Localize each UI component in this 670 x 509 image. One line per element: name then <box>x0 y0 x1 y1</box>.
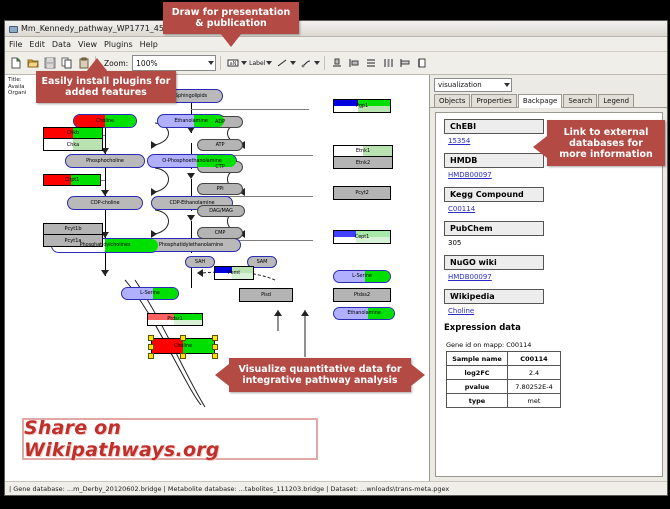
gene-row-etnk2[interactable]: Etnk2 <box>334 157 392 168</box>
status-bar: | Gene database: ...m_Derby_20120602.bri… <box>5 481 667 495</box>
line-dropdown[interactable] <box>274 56 296 71</box>
node-label: Ethanolamine <box>347 311 380 316</box>
tab-search[interactable]: Search <box>563 94 597 107</box>
backpage-link-nugo[interactable]: HMDB00097 <box>448 273 654 281</box>
common-height-icon[interactable] <box>414 56 429 71</box>
node-l-serine-right[interactable]: L-Serine <box>333 270 391 283</box>
selection-handle[interactable] <box>212 344 218 350</box>
chevron-down-icon <box>266 61 272 65</box>
node-label: Choline <box>174 344 192 349</box>
callout-line: more information <box>559 149 653 160</box>
node-label: L-Serine <box>140 291 160 296</box>
menu-item-plugins[interactable]: Plugins <box>104 40 133 49</box>
node-atp[interactable]: ATP <box>197 139 243 151</box>
table-row: pvalue 7.80252E-4 <box>447 380 561 394</box>
stack-vertical-icon[interactable] <box>363 56 378 71</box>
screenshot-root: Mm_Kennedy_pathway_WP1771_45176.gpml Fil… <box>0 0 670 509</box>
tab-backpage[interactable]: Backpage <box>518 94 562 108</box>
connector <box>105 206 106 238</box>
node-label: Ptdsr1 <box>167 317 182 322</box>
gene-row-pcyt1b[interactable]: Pcyt1b <box>44 224 102 235</box>
node-pgp1[interactable]: Pgp1 <box>333 99 391 113</box>
expression-table: Sample name C00114 log2FC 2.4 pvalue 7.8… <box>446 351 561 408</box>
window-titlebar: Mm_Kennedy_pathway_WP1771_45176.gpml <box>5 21 667 37</box>
open-folder-icon[interactable] <box>25 56 40 71</box>
visualization-row: visualization <box>430 75 667 94</box>
tab-objects[interactable]: Objects <box>434 94 470 107</box>
pathway-metadata: Title: Availa Organi <box>8 77 26 97</box>
datanode-dropdown[interactable]: aN <box>225 56 247 71</box>
datanode-icon[interactable]: aN <box>225 56 240 71</box>
visualization-value: visualization <box>438 81 482 89</box>
callout-visualize-quantitative-data: Visualize quantitative data for integrat… <box>229 358 411 392</box>
callout-arrow-down-icon <box>220 33 242 47</box>
node-label: O-Phosphoethanolamine <box>162 159 222 164</box>
node-label: Pcyt1b <box>64 226 81 232</box>
new-file-icon[interactable] <box>8 56 23 71</box>
node-cmp[interactable]: CMP <box>197 227 243 239</box>
node-label: Chpt1 <box>65 178 79 183</box>
table-row: log2FC 2.4 <box>447 366 561 380</box>
copy-icon[interactable] <box>59 56 74 71</box>
toolbar-separator <box>324 56 325 70</box>
callout-arrow-left-icon <box>215 364 229 386</box>
node-label: ADP <box>215 120 225 125</box>
gene-id-line: Gene id on mapp: C00114 <box>446 341 654 349</box>
node-l-serine-mid[interactable]: L-Serine <box>121 287 179 300</box>
align-bottom-icon[interactable] <box>329 56 344 71</box>
callout-line: & publication <box>172 18 291 29</box>
backpage-section-nugo-title: NuGO wiki <box>444 255 544 270</box>
node-phosphocholine[interactable]: Phosphocholine <box>65 154 145 168</box>
node-ethanolamine-right[interactable]: Ethanolamine <box>333 307 395 320</box>
node-choline-top[interactable]: Choline <box>73 114 137 128</box>
selection-handle[interactable] <box>212 335 218 341</box>
backpage-content[interactable]: ChEBI 15354 HMDB HMDB00097 Kegg Compound… <box>435 112 663 477</box>
node-label: Etnk1 <box>356 148 370 154</box>
callout-line: Link to external <box>559 127 653 138</box>
align-left-icon[interactable] <box>346 56 361 71</box>
toolbar-separator <box>220 56 221 70</box>
callout-easily-install-plugins: Easily install plugins for added feature… <box>36 71 176 103</box>
label-dropdown[interactable]: Label <box>249 60 272 67</box>
selection-handle[interactable] <box>212 353 218 359</box>
distribute-icon[interactable] <box>380 56 395 71</box>
selection-handle[interactable] <box>180 353 186 359</box>
node-label: CMP <box>215 231 226 236</box>
node-ppi[interactable]: PPi <box>197 183 243 195</box>
backpage-section-hmdb-title: HMDB <box>444 153 544 168</box>
node-label: Phosphatidylcholines <box>80 243 131 248</box>
node-label: Pgp1 <box>356 104 368 109</box>
table-cell-key: Sample name <box>447 352 508 366</box>
table-row: type met <box>447 394 561 408</box>
node-cdp-choline[interactable]: CDP-choline <box>67 196 143 210</box>
interaction-dropdown[interactable] <box>298 56 320 71</box>
node-pisd[interactable]: Pisd <box>239 288 293 302</box>
node-label: DAG/MAG <box>209 209 232 214</box>
backpage-value-pubchem: 305 <box>448 239 654 247</box>
chevron-down-icon <box>314 61 320 65</box>
backpage-link-wikipedia[interactable]: Choline <box>448 307 654 315</box>
node-label: ATP <box>216 143 225 148</box>
connector <box>105 128 106 154</box>
tab-legend[interactable]: Legend <box>598 94 634 107</box>
menu-item-edit[interactable]: Edit <box>29 40 45 49</box>
node-label: Cept1 <box>355 235 369 240</box>
node-label: Pcyt2 <box>355 191 368 196</box>
menu-item-file[interactable]: File <box>9 40 22 49</box>
label-button-text: Label <box>249 60 265 67</box>
table-cell-key: type <box>447 394 508 408</box>
interaction-icon[interactable] <box>298 56 313 71</box>
node-dagmag[interactable]: DAG/MAG <box>197 205 245 217</box>
node-label: L-Serine <box>352 274 372 279</box>
callout-line: Draw for presentation <box>172 7 291 18</box>
node-label: Chka <box>67 142 80 148</box>
table-cell-key: log2FC <box>447 366 508 380</box>
callout-arrow-left-icon <box>533 136 547 158</box>
callout-line: Easily install plugins for <box>42 76 171 87</box>
table-cell-value: C00114 <box>508 352 561 366</box>
node-chkb-chka[interactable]: Chkb Chka <box>43 127 103 151</box>
node-label: Sphingolipids <box>175 94 207 99</box>
backpage-section-wikipedia-title: Wikipedia <box>444 289 544 304</box>
table-cell-key: pvalue <box>447 380 508 394</box>
callout-line: added features <box>42 87 171 98</box>
node-ptdss2[interactable]: Ptdss2 <box>333 288 391 302</box>
backpage-section-kegg-title: Kegg Compound <box>444 187 544 202</box>
node-cept1[interactable]: Cept1 <box>333 230 391 244</box>
menu-item-help[interactable]: Help <box>140 40 158 49</box>
node-label: SAH <box>195 260 205 265</box>
status-bar-text: | Gene database: ...m_Derby_20120602.bri… <box>9 485 449 493</box>
meta-organism: Organi <box>8 90 26 97</box>
callout-line: integrative pathway analysis <box>238 375 401 386</box>
table-row: Sample name C00114 <box>447 352 561 366</box>
menu-item-view[interactable]: View <box>78 40 97 49</box>
backpage-link-kegg[interactable]: C00114 <box>448 205 654 213</box>
node-label: CDP-Ethanolamine <box>170 201 215 206</box>
pathvisio-icon <box>8 24 17 33</box>
svg-text:aN: aN <box>229 61 236 67</box>
connector <box>105 164 106 196</box>
node-label: Ptdss2 <box>354 293 370 298</box>
selection-handle[interactable] <box>180 335 186 341</box>
table-cell-value: 2.4 <box>508 366 561 380</box>
backpage-section-chebi-title: ChEBI <box>444 119 544 134</box>
node-label: Pisd <box>261 293 271 298</box>
connector <box>191 109 309 110</box>
gene-row-chka[interactable]: Chka <box>44 139 102 150</box>
node-label: PPi <box>216 187 223 192</box>
visualization-select[interactable]: visualization <box>434 78 512 92</box>
callout-link-to-external-databases: Link to external databases for more info… <box>547 120 665 166</box>
node-sah[interactable]: SAH <box>185 256 215 268</box>
node-label: CDP-choline <box>91 201 120 206</box>
node-label: Choline <box>96 119 114 124</box>
line-icon[interactable] <box>274 56 289 71</box>
node-chpt1[interactable]: Chpt1 <box>43 174 101 186</box>
gene-row-etnk1[interactable]: Etnk1 <box>334 146 392 157</box>
callout-arrow-up-icon <box>86 58 108 72</box>
expression-data-heading: Expression data <box>444 323 654 333</box>
backpage-link-hmdb[interactable]: HMDB00097 <box>448 171 654 179</box>
selection-handle[interactable] <box>148 335 154 341</box>
tab-properties[interactable]: Properties <box>471 94 516 107</box>
chevron-down-icon <box>241 61 247 65</box>
backpage-section-pubchem-title: PubChem <box>444 221 544 236</box>
menubar: File Edit Data View Plugins Help <box>5 37 667 52</box>
node-label: SAM <box>257 260 268 265</box>
chevron-down-icon <box>290 61 296 65</box>
callout-draw-for-presentation: Draw for presentation & publication <box>163 2 299 34</box>
menu-item-data[interactable]: Data <box>52 40 71 49</box>
chevron-down-icon <box>208 61 214 65</box>
node-label: Phosphatidylethanolamine <box>159 243 223 248</box>
side-panel-tabs: Objects Properties Backpage Search Legen… <box>430 94 667 108</box>
node-label: Ethanolamine <box>174 119 207 124</box>
node-ptdsr1[interactable]: Ptdsr1 <box>147 313 203 326</box>
callout-line: databases for <box>559 138 653 149</box>
node-label: Pcyt1a <box>65 238 82 244</box>
zoom-value: 100% <box>136 59 157 68</box>
node-label: Pemt <box>228 271 240 276</box>
table-cell-value: met <box>508 394 561 408</box>
share-banner: Share on Wikipathways.org <box>22 418 318 460</box>
node-pcyt2[interactable]: Pcyt2 <box>333 186 391 200</box>
zoom-select[interactable]: 100% <box>132 55 216 71</box>
node-pemt[interactable]: Pemt <box>214 266 254 280</box>
callout-line: Visualize quantitative data for <box>238 364 401 375</box>
share-banner-text: Share on Wikipathways.org <box>24 417 316 461</box>
node-label: Phosphocholine <box>86 159 124 164</box>
node-label: Chkb <box>67 130 80 136</box>
save-icon <box>42 56 57 71</box>
selection-handle[interactable] <box>148 344 154 350</box>
common-width-icon[interactable] <box>397 56 412 71</box>
node-etnk1-etnk2[interactable]: Etnk1 Etnk2 <box>333 145 393 169</box>
chevron-down-icon <box>504 83 510 87</box>
table-cell-value: 7.80252E-4 <box>508 380 561 394</box>
selection-handle[interactable] <box>148 353 154 359</box>
gene-row-chkb[interactable]: Chkb <box>44 128 102 139</box>
node-label: CTP <box>215 165 224 170</box>
node-label: Etnk2 <box>356 160 370 166</box>
callout-arrow-right-icon <box>411 364 425 386</box>
